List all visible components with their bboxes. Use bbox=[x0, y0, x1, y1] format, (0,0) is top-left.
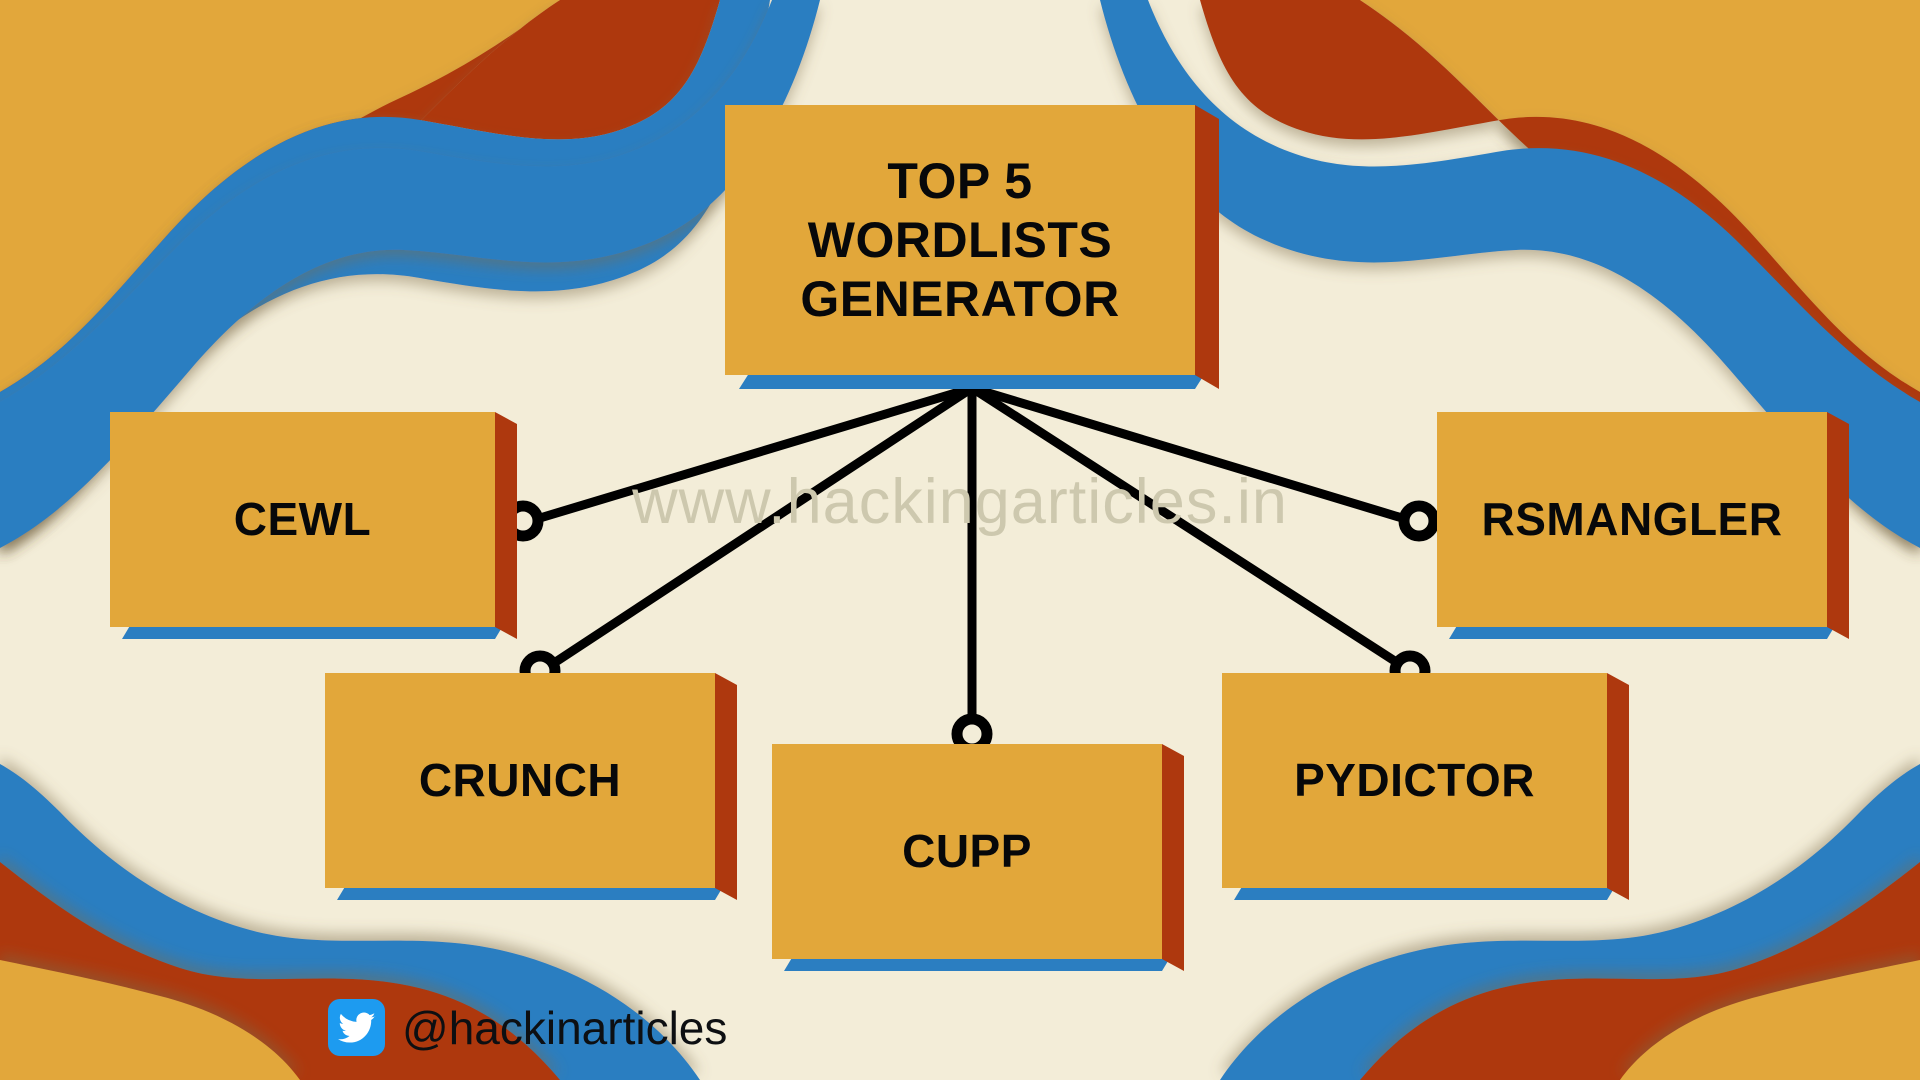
node-box-crunch[interactable]: CRUNCH bbox=[325, 673, 715, 888]
node-face: CEWL bbox=[110, 412, 495, 627]
node-side-shadow bbox=[715, 673, 737, 900]
hub-box-side-shadow bbox=[1195, 105, 1219, 389]
node-box-rsmangler[interactable]: RSMANGLER bbox=[1437, 412, 1827, 627]
hub-box-label: TOP 5 WORDLISTS GENERATOR bbox=[800, 152, 1119, 329]
node-box-cewl[interactable]: CEWL bbox=[110, 412, 495, 627]
social-handle[interactable]: @hackinarticles bbox=[328, 999, 727, 1056]
node-side-shadow bbox=[495, 412, 517, 639]
node-label: CRUNCH bbox=[419, 754, 621, 807]
node-label: CEWL bbox=[234, 493, 371, 546]
hub-box-top-5-wordlists-generator[interactable]: TOP 5 WORDLISTS GENERATOR bbox=[725, 105, 1195, 375]
social-handle-text: @hackinarticles bbox=[402, 1001, 727, 1055]
node-face: RSMANGLER bbox=[1437, 412, 1827, 627]
node-face: CUPP bbox=[772, 744, 1162, 959]
twitter-icon[interactable] bbox=[328, 999, 385, 1056]
node-side-shadow bbox=[1827, 412, 1849, 639]
hub-box-face: TOP 5 WORDLISTS GENERATOR bbox=[725, 105, 1195, 375]
infographic-canvas: www.hackingarticles.in TOP 5 WORDLISTS G… bbox=[0, 0, 1920, 1080]
node-box-pydictor[interactable]: PYDICTOR bbox=[1222, 673, 1607, 888]
node-side-shadow bbox=[1162, 744, 1184, 971]
node-box-cupp[interactable]: CUPP bbox=[772, 744, 1162, 959]
node-label: CUPP bbox=[902, 825, 1032, 878]
node-label: PYDICTOR bbox=[1294, 754, 1535, 807]
node-side-shadow bbox=[1607, 673, 1629, 900]
node-label: RSMANGLER bbox=[1482, 493, 1783, 546]
node-face: CRUNCH bbox=[325, 673, 715, 888]
node-face: PYDICTOR bbox=[1222, 673, 1607, 888]
